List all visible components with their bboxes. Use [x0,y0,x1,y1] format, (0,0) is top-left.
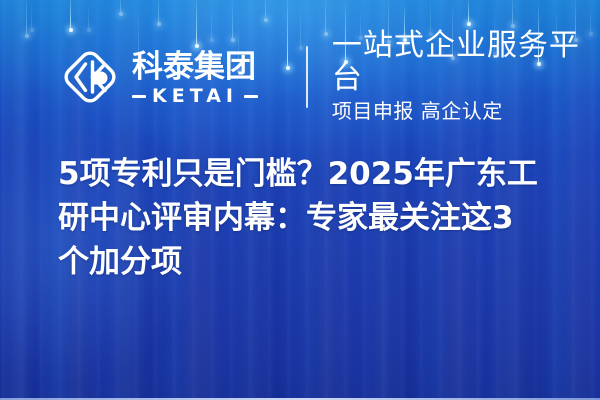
light-streak [158,0,159,24]
light-streak [88,4,89,30]
brand-logo: 科泰集团 KETAI [58,45,282,109]
headline: 5项专利只是门槛？2025年广东工 研中心评审内幕：专家最关注这3 个加分项 [58,152,560,284]
wordmark-dash-left [132,95,146,98]
svg-text:科泰集团: 科泰集团 [132,49,256,84]
light-streak [325,0,326,34]
headline-line-1: 5项专利只是门槛？2025年广东工 [58,152,560,196]
wordmark-dash-right [244,95,258,98]
light-streak-head [69,28,73,32]
light-streak-head [324,32,328,36]
tagline-primary: 一站式企业服务平台 [332,30,600,95]
ketai-diamond-monogram-icon [58,45,122,109]
tagline-block: 一站式企业服务平台 项目申报 高企认定 [332,30,600,124]
company-name-cn: 科泰集团 [132,48,282,84]
light-streak-head [157,22,161,26]
light-streak [512,0,513,26]
headline-line-2: 研中心评审内幕：专家最关注这3 [58,196,560,240]
light-streak [468,0,469,24]
light-streak [70,0,71,30]
light-streak-head [264,18,268,22]
light-streak [232,0,233,40]
header-divider [306,46,308,108]
tagline-secondary: 项目申报 高企认定 [332,99,600,124]
promo-banner: 科泰集团 KETAI 一站式企业服务平台 项目申报 高企认定 5项专利只是门槛？… [0,0,600,400]
brand-wordmark: 科泰集团 KETAI [132,48,282,106]
light-streak-head [119,12,123,16]
headline-line-3: 个加分项 [58,240,560,284]
light-streak [265,0,266,20]
light-streak-head [87,28,91,32]
light-streak-head [467,22,471,26]
banner-header: 科泰集团 KETAI 一站式企业服务平台 项目申报 高企认定 [0,38,600,116]
company-name-en: KETAI [152,87,238,106]
light-streak-head [30,28,34,32]
light-streak [26,0,27,36]
light-streak [211,6,212,40]
light-streak [31,0,32,30]
light-streak [120,0,121,14]
company-name-en-row: KETAI [132,87,282,106]
